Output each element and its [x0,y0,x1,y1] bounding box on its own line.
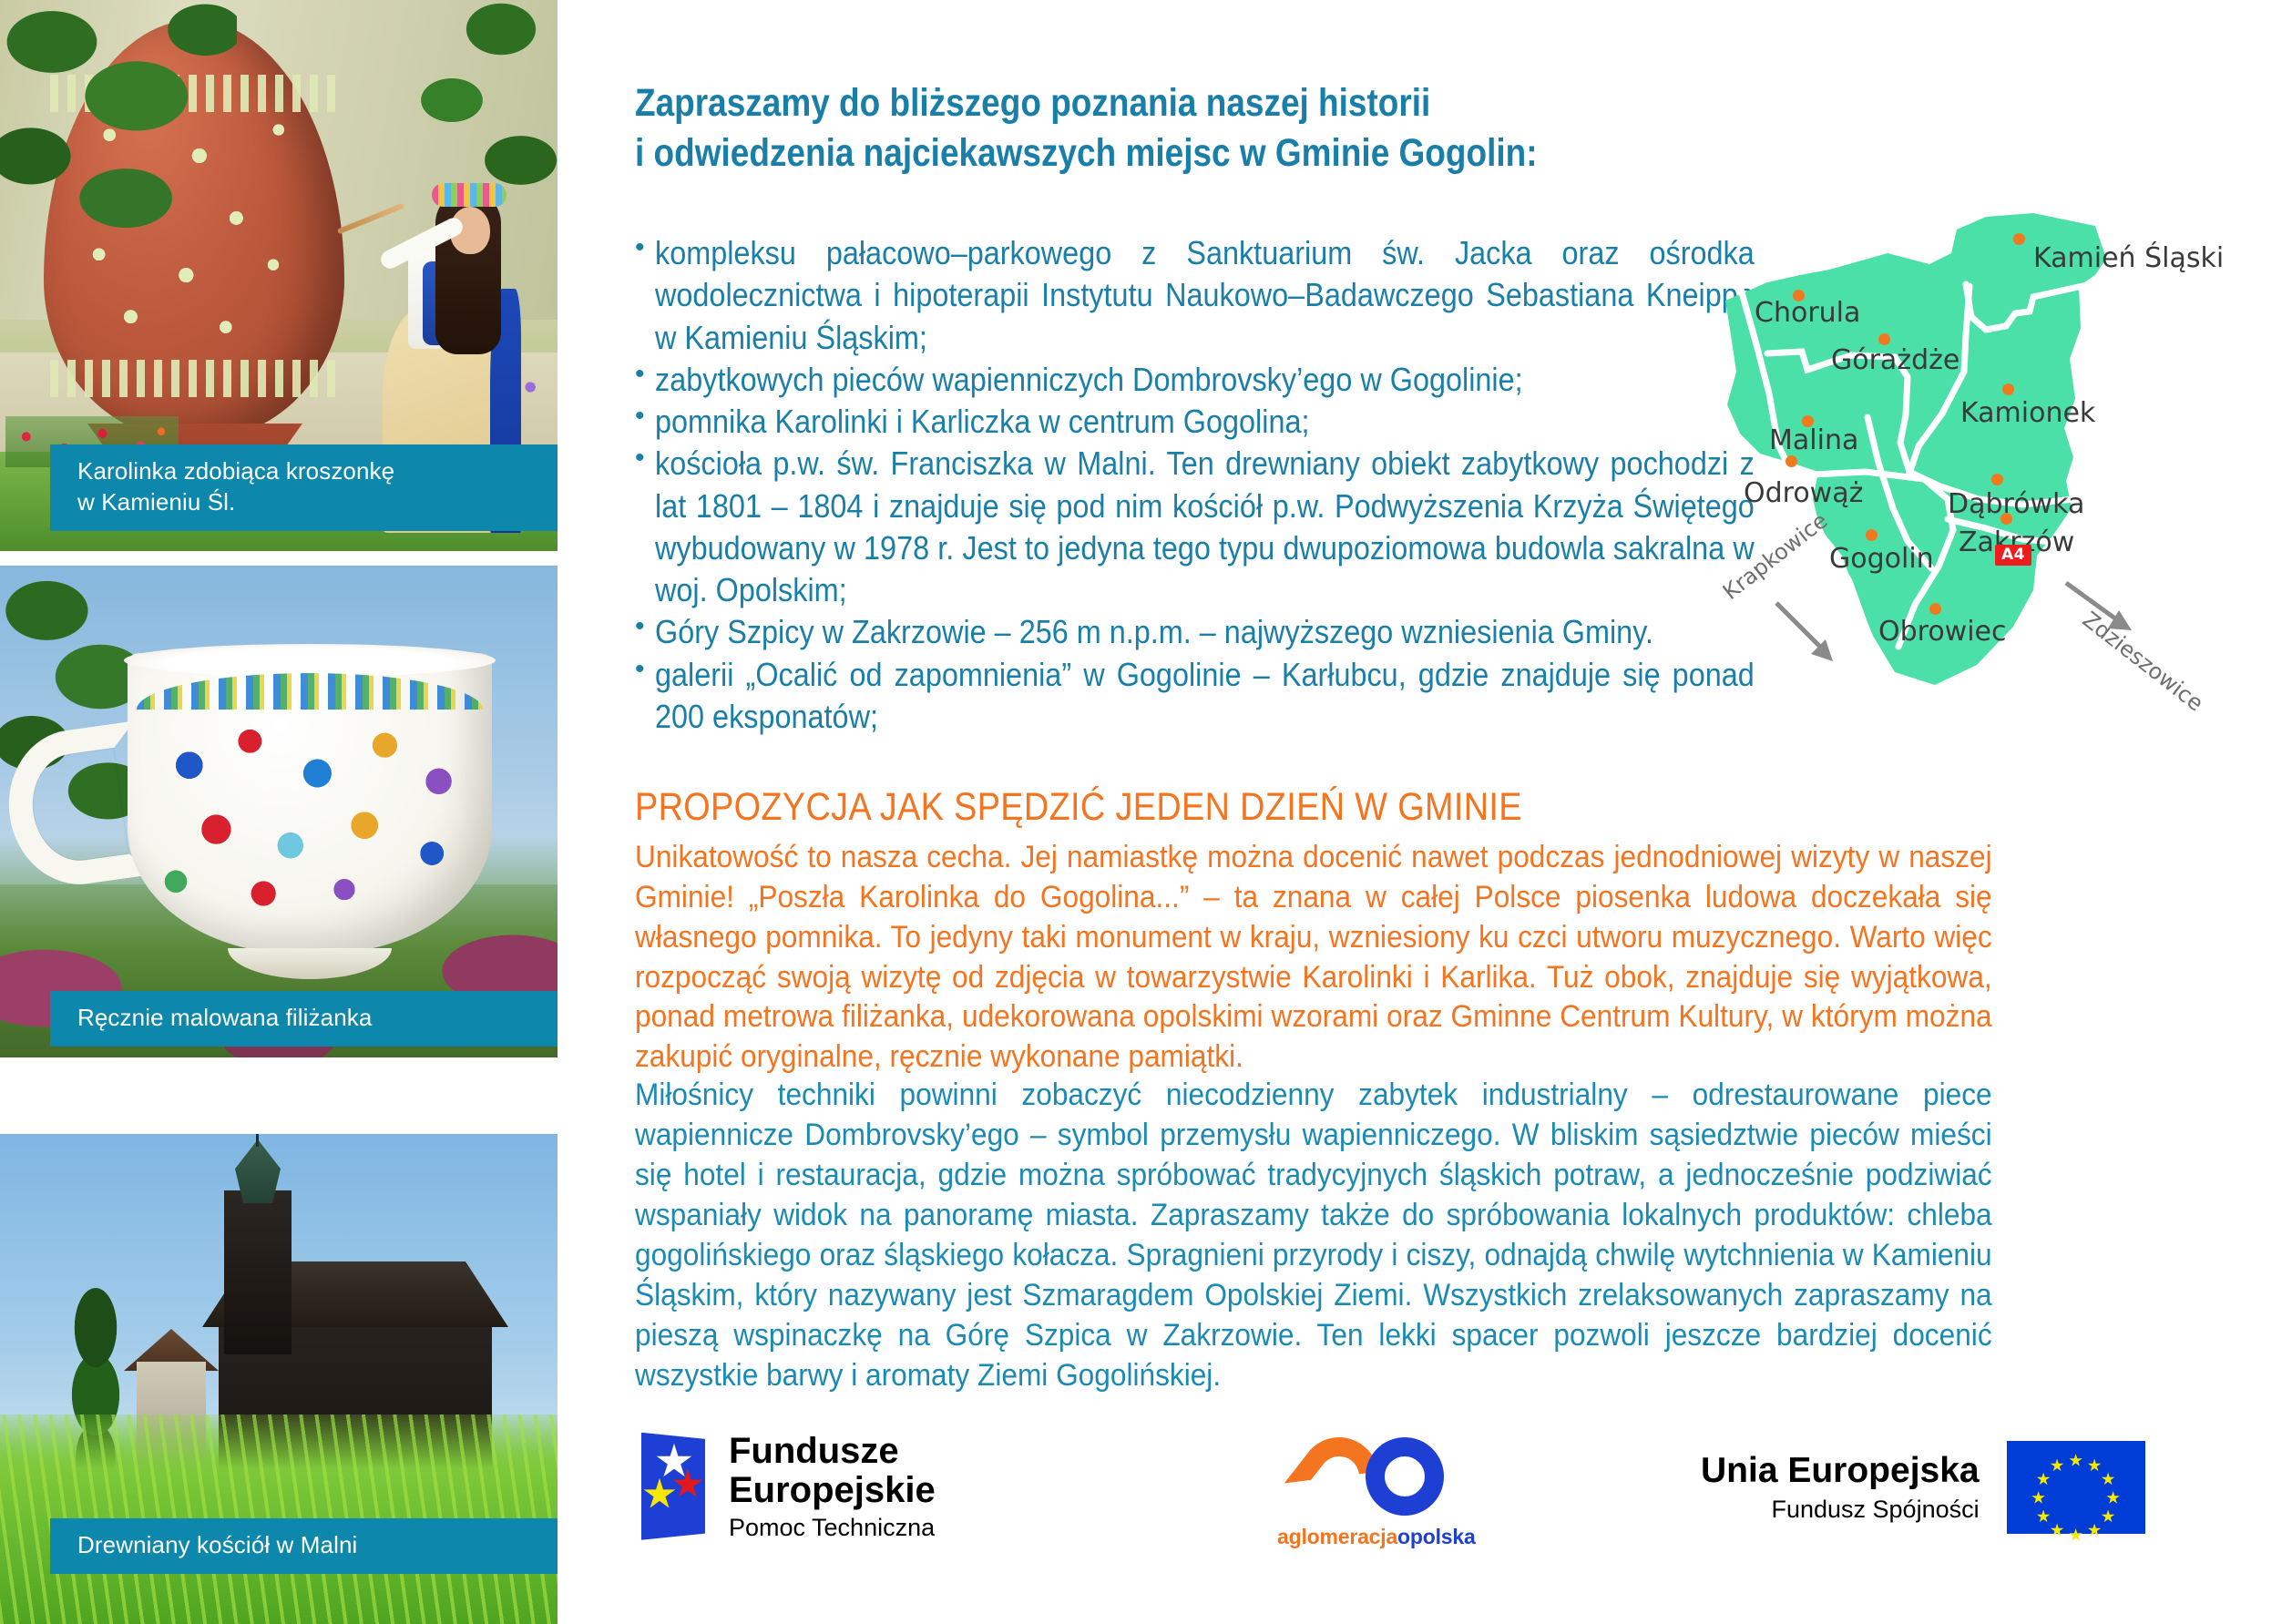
map-label-gorazdze: Górażdże [1831,344,1959,376]
proposal-paragraph: Unikatowość to nasza cecha. Jej namiastk… [635,838,1992,1078]
ao-monogram-icon [1300,1435,1446,1519]
list-item-label: galerii „Ocalić od zapomnienia” w Gogoli… [655,654,1755,739]
list-item: galerii „Ocalić od zapomnienia” w Gogoli… [635,654,1755,739]
cup-rim [124,644,496,677]
highway-a4-badge: A4 [1995,545,2031,566]
list-item: pomnika Karolinki i Karliczka w centrum … [635,401,1755,443]
yellow-star-icon [643,1478,676,1511]
list-item: kompleksu pałacowo–parkowego z Sanktuari… [635,232,1755,359]
foliage-right [403,0,558,264]
list-item: Góry Szpicy w Zakrzowie – 256 m n.p.m. –… [635,611,1755,653]
fundusze-line3: Pomoc Techniczna [729,1515,936,1541]
logo-fundusze-europejskie: Fundusze Europejskie Pomoc Techniczna [641,1432,936,1540]
map-label-dabrowka: Dąbrówka [1948,488,2084,520]
list-item-label: pomnika Karolinki i Karliczka w centrum … [655,401,1755,443]
map-label-chorula: Chorula [1755,297,1860,329]
fundusze-line1: Fundusze [729,1432,936,1471]
fundusze-line2: Europejskie [729,1471,936,1510]
ao-o-shape-icon [1366,1437,1444,1516]
ao-word2: opolska [1397,1525,1476,1548]
direction-arrow-krapkowice-icon [1769,596,1851,678]
eu-flag-icon [2007,1441,2145,1534]
photo-column: Karolinka zdobiąca kroszonkę w Kamieniu … [0,0,558,1624]
place-dot [1929,603,1941,615]
map-label-kamionek: Kamionek [1960,397,2095,429]
gmina-gogolin-map: Kamień Śląski Chorula Górażdże Kamionek … [1713,199,2277,709]
page-title: Zapraszamy do bliższego poznania naszej … [635,78,1560,179]
cross-icon [256,1134,259,1147]
fundusze-flag-icon [641,1433,705,1540]
brochure-page: Karolinka zdobiąca kroszonkę w Kamieniu … [0,0,2292,1624]
footer-logos: Fundusze Europejskie Pomoc Techniczna ag… [558,1421,2292,1585]
logo-aglomeracja-opolska: aglomeracjaopolska [1277,1435,1468,1549]
map-label-kamien-slaski: Kamień Śląski [2033,242,2224,274]
second-paragraph-text: Miłośnicy techniki powinni zobaczyć niec… [635,1075,1992,1395]
logo-unia-europejska: Unia Europejska Fundusz Spójności [1701,1441,2145,1534]
photo-easter-egg: Karolinka zdobiąca kroszonkę w Kamieniu … [0,0,558,551]
ao-word1: aglomeracja [1277,1525,1397,1548]
photo-caption: Karolinka zdobiąca kroszonkę w Kamieniu … [50,444,558,531]
direction-arrow-zdzieszowice-icon [2059,576,2150,658]
fundusze-text: Fundusze Europejskie Pomoc Techniczna [729,1432,936,1540]
photo-caption: Drewniany kościół w Malni [50,1518,558,1574]
list-item: kościoła p.w. św. Franciszka w Malni. Te… [635,443,1755,611]
proposal-paragraph-text: Unikatowość to nasza cecha. Jej namiastk… [635,838,1992,1078]
church-tower [224,1190,292,1354]
place-dot [2002,383,2014,395]
map-label-odrowaz: Odrowąż [1744,477,1863,509]
list-item: zabytkowych pieców wapienniczych Dombrov… [635,359,1755,401]
section-heading-proposal: PROPOZYCJA JAK SPĘDZIĆ JEDEN DZIEŃ W GMI… [635,785,1757,830]
attractions-list: kompleksu pałacowo–parkowego z Sanktuari… [635,232,1755,738]
unia-line1: Unia Europejska [1701,1452,1980,1491]
ao-wordmark: aglomeracjaopolska [1277,1525,1468,1549]
photo-caption: Ręcznie malowana filiżanka [50,991,558,1047]
map-label-obrowiec: Obrowiec [1878,616,2007,648]
list-item-label: zabytkowych pieców wapienniczych Dombrov… [655,359,1755,401]
place-dot [1991,474,2003,485]
teacup-scene [0,566,558,1057]
photo-teacup: Ręcznie malowana filiżanka [0,566,558,1057]
foliage-left [0,0,237,282]
place-dot [1866,529,1878,541]
list-item-label: kościoła p.w. św. Franciszka w Malni. Te… [655,443,1755,611]
content-column: Zapraszamy do bliższego poznania naszej … [558,0,2292,1624]
place-dot [2000,513,2012,525]
photo-wooden-church: Drewniany kościół w Malni [0,1134,558,1624]
list-item-label: kompleksu pałacowo–parkowego z Sanktuari… [655,232,1755,359]
unia-text: Unia Europejska Fundusz Spójności [1701,1452,1980,1524]
place-dot [2013,233,2025,245]
red-star-icon [672,1469,703,1500]
unia-line2: Fundusz Spójności [1701,1496,1980,1524]
second-paragraph: Miłośnicy techniki powinni zobaczyć niec… [635,1075,1992,1395]
map-label-malina: Malina [1769,424,1858,456]
list-item-label: Góry Szpicy w Zakrzowie – 256 m n.p.m. –… [655,611,1755,653]
map-label-gogolin: Gogolin [1829,543,1934,575]
church-spire [235,1139,281,1203]
place-dot [1786,455,1797,467]
cup-floral-pattern [142,713,479,914]
